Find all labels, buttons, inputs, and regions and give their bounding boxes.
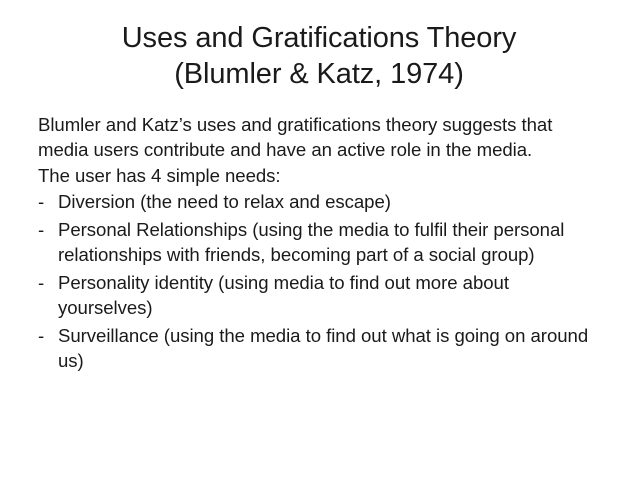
list-item: - Personality identity (using media to f…: [38, 270, 600, 321]
title-line-2: (Blumler & Katz, 1974): [0, 56, 638, 92]
title-line-1: Uses and Gratifications Theory: [0, 20, 638, 56]
needs-list: - Diversion (the need to relax and escap…: [38, 189, 600, 374]
list-item-label: Surveillance (using the media to find ou…: [58, 323, 600, 374]
list-item: - Personal Relationships (using the medi…: [38, 217, 600, 268]
list-item: - Diversion (the need to relax and escap…: [38, 189, 600, 215]
hyphen-bullet-icon: -: [38, 270, 44, 296]
slide-title: Uses and Gratifications Theory (Blumler …: [0, 20, 638, 92]
list-item: - Surveillance (using the media to find …: [38, 323, 600, 374]
hyphen-bullet-icon: -: [38, 189, 44, 215]
list-item-label: Diversion (the need to relax and escape): [58, 189, 600, 215]
body-intro-line: The user has 4 simple needs:: [38, 163, 600, 188]
hyphen-bullet-icon: -: [38, 217, 44, 243]
slide-canvas: Uses and Gratifications Theory (Blumler …: [0, 0, 638, 479]
hyphen-bullet-icon: -: [38, 323, 44, 349]
list-item-label: Personality identity (using media to fin…: [58, 270, 600, 321]
body-paragraph: Blumler and Katz’s uses and gratificatio…: [38, 112, 600, 162]
slide-body: Blumler and Katz’s uses and gratificatio…: [38, 112, 600, 376]
list-item-label: Personal Relationships (using the media …: [58, 217, 600, 268]
